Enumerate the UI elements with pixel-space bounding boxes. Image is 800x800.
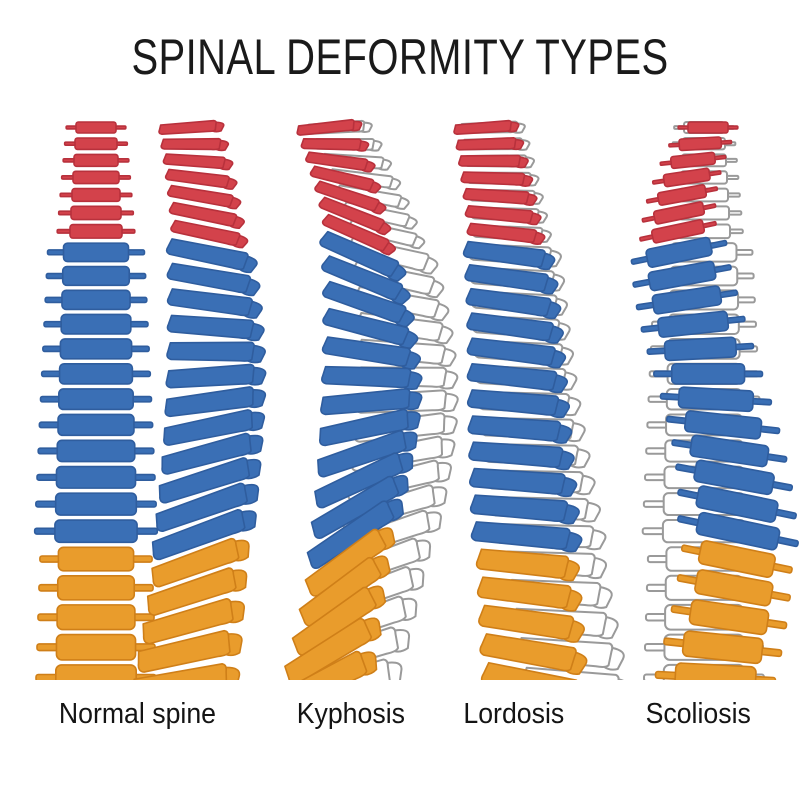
- vertebral-body: [459, 155, 520, 166]
- vertebral-body: [60, 364, 133, 384]
- vertebral-body: [167, 314, 254, 339]
- vertebral-body: [56, 467, 135, 489]
- vertebra-thoracic: [41, 389, 152, 410]
- spine-normal-frontal: [35, 122, 158, 680]
- vertebra-thoracic: [43, 339, 149, 359]
- vertebra-thoracic: [45, 290, 147, 309]
- figure-label-kyphosis: Kyphosis: [297, 698, 405, 731]
- vertebra-cervical: [161, 139, 228, 151]
- vertebra-thoracic: [38, 440, 154, 461]
- vertebral-body: [322, 365, 411, 387]
- vertebra-cervical: [59, 206, 134, 219]
- vertebral-body: [74, 154, 118, 166]
- vertebral-body: [60, 339, 131, 359]
- vertebral-body: [63, 267, 130, 286]
- vertebral-body: [165, 364, 255, 389]
- vertebral-body: [59, 389, 133, 410]
- vertebral-body: [679, 137, 722, 151]
- figure-label-scoliosis: Scoliosis: [646, 698, 751, 731]
- vertebral-body: [672, 364, 745, 384]
- vertebra-cervical: [57, 225, 135, 239]
- vertebral-body: [165, 168, 229, 188]
- page-title: SPINAL DEFORMITY TYPES: [80, 28, 720, 86]
- vertebra-thoracic: [165, 364, 266, 391]
- spine-kyphosis: [273, 119, 458, 680]
- vertebra-thoracic: [44, 314, 148, 333]
- spine-lordosis: [454, 120, 636, 680]
- vertebra-thoracic: [36, 493, 156, 515]
- spines-illustration: [0, 100, 800, 680]
- vertebra-thoracic: [42, 364, 151, 384]
- vertebral-body: [163, 153, 225, 168]
- vertebral-body: [61, 314, 131, 333]
- vertebral-body: [167, 342, 254, 362]
- spine-scoliosis: [630, 122, 800, 680]
- vertebra-thoracic: [35, 520, 158, 542]
- vertebral-body: [58, 576, 134, 600]
- vertebra-cervical: [65, 138, 128, 149]
- vertebra-cervical: [465, 205, 541, 225]
- vertebra-lumbar: [38, 605, 154, 630]
- vertebra-cervical: [159, 120, 225, 136]
- vertebral-body: [62, 290, 130, 309]
- vertebral-body: [296, 119, 354, 135]
- vertebra-cervical: [461, 171, 533, 186]
- vertebral-body: [76, 122, 116, 133]
- vertebral-body: [55, 520, 137, 542]
- vertebra-thoracic: [48, 243, 145, 261]
- vertebral-body: [56, 493, 137, 515]
- vertebral-body: [75, 138, 117, 149]
- vertebra-cervical: [456, 137, 523, 151]
- vertebral-body: [57, 440, 134, 461]
- vertebral-body: [461, 171, 525, 185]
- vertebral-body: [71, 206, 121, 219]
- vertebra-cervical: [66, 122, 126, 133]
- vertebral-body: [56, 665, 136, 680]
- vertebral-body: [675, 663, 757, 680]
- vertebral-body: [161, 139, 221, 150]
- vertebra-thoracic: [37, 467, 155, 489]
- spinal-deformity-poster: SPINAL DEFORMITY TYPES Normal spine Kyph…: [0, 0, 800, 800]
- vertebral-body: [57, 605, 135, 630]
- vertebral-body: [688, 122, 728, 133]
- vertebra-lumbar: [39, 576, 153, 600]
- vertebra-cervical: [62, 171, 131, 183]
- vertebral-body: [70, 225, 122, 239]
- vertebral-body: [678, 387, 753, 412]
- vertebra-thoracic: [167, 342, 265, 363]
- vertebra-thoracic: [39, 414, 152, 435]
- figure-labels-row: Normal spine Kyphosis Lordosis Scoliosis: [0, 698, 800, 742]
- vertebra-cervical: [459, 155, 528, 167]
- vertebral-body: [467, 337, 556, 366]
- vertebral-body: [456, 138, 516, 151]
- vertebral-body: [58, 414, 134, 435]
- figure-label-normal-spine: Normal spine: [59, 698, 216, 731]
- vertebra-cervical: [301, 138, 368, 151]
- vertebra-thoracic: [322, 365, 422, 389]
- vertebral-body: [58, 547, 133, 570]
- vertebral-body: [464, 263, 548, 292]
- vertebra-cervical: [296, 119, 362, 137]
- vertebra-lumbar: [37, 635, 155, 660]
- vertebra-cervical: [63, 154, 129, 166]
- figures-row: [0, 100, 800, 680]
- vertebra-thoracic: [46, 267, 145, 286]
- vertebral-body: [56, 635, 135, 660]
- vertebral-body: [72, 189, 120, 202]
- vertebra-cervical: [163, 153, 233, 170]
- vertebral-body: [301, 138, 361, 150]
- vertebral-body: [64, 243, 129, 261]
- figure-label-lordosis: Lordosis: [463, 698, 564, 731]
- vertebral-body: [664, 337, 736, 361]
- vertebra-lumbar: [40, 547, 152, 570]
- vertebral-body: [73, 171, 119, 183]
- vertebral-body: [465, 205, 533, 224]
- vertebra-cervical: [60, 189, 132, 202]
- vertebral-body: [159, 120, 217, 134]
